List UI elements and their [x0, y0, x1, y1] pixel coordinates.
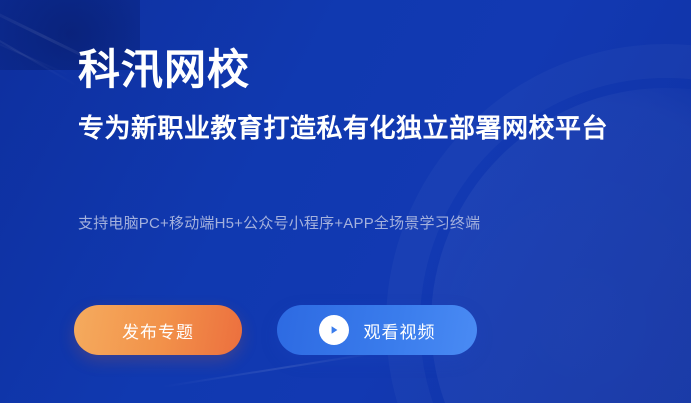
play-icon: [319, 315, 349, 345]
watch-video-button[interactable]: 观看视频: [277, 305, 477, 355]
publish-topic-button-label: 发布专题: [122, 318, 194, 343]
supported-platforms-text: 支持电脑PC+移动端H5+公众号小程序+APP全场景学习终端: [78, 213, 480, 236]
hero-subtitle: 专为新职业教育打造私有化独立部署网校平台: [78, 112, 608, 146]
hero-banner: 科汛网校 专为新职业教育打造私有化独立部署网校平台 支持电脑PC+移动端H5+公…: [0, 0, 691, 403]
decorative-light-streak: [0, 30, 70, 77]
decorative-light-streak: [0, 10, 78, 87]
hero-actions: 发布专题 观看视频: [74, 305, 477, 355]
hero-content: 科汛网校 专为新职业教育打造私有化独立部署网校平台 支持电脑PC+移动端H5+公…: [78, 0, 691, 403]
page-title: 科汛网校: [78, 46, 250, 93]
publish-topic-button[interactable]: 发布专题: [74, 305, 242, 355]
watch-video-button-label: 观看视频: [364, 318, 436, 343]
